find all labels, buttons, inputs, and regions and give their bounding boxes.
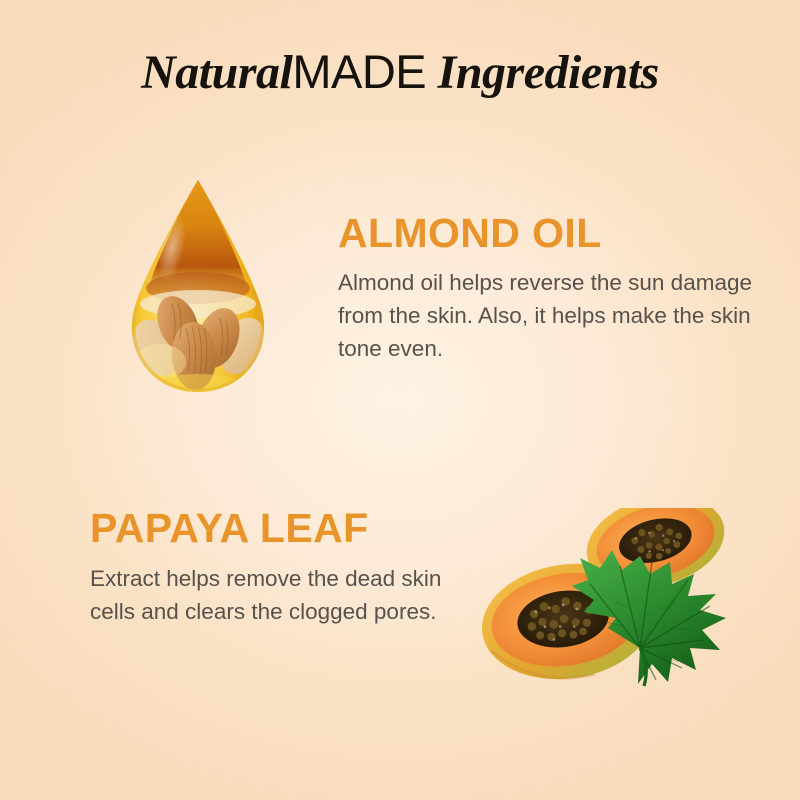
title-part-made: MADE — [292, 45, 426, 98]
title-part-natural: Natural — [141, 46, 292, 99]
almond-oil-droplet-image — [120, 176, 276, 414]
page-title: NaturalMADE Ingredients — [0, 44, 800, 100]
ingredients-poster: NaturalMADE Ingredients — [0, 0, 800, 800]
papaya-leaf-image — [468, 508, 768, 736]
title-part-ingredients: Ingredients — [426, 46, 659, 99]
section-body-almond-oil: Almond oil helps reverse the sun damage … — [338, 266, 758, 365]
section-heading-papaya-leaf: PAPAYA LEAF — [90, 505, 369, 552]
section-heading-almond-oil: ALMOND OIL — [338, 210, 602, 257]
section-body-papaya-leaf: Extract helps remove the dead skin cells… — [90, 562, 490, 628]
